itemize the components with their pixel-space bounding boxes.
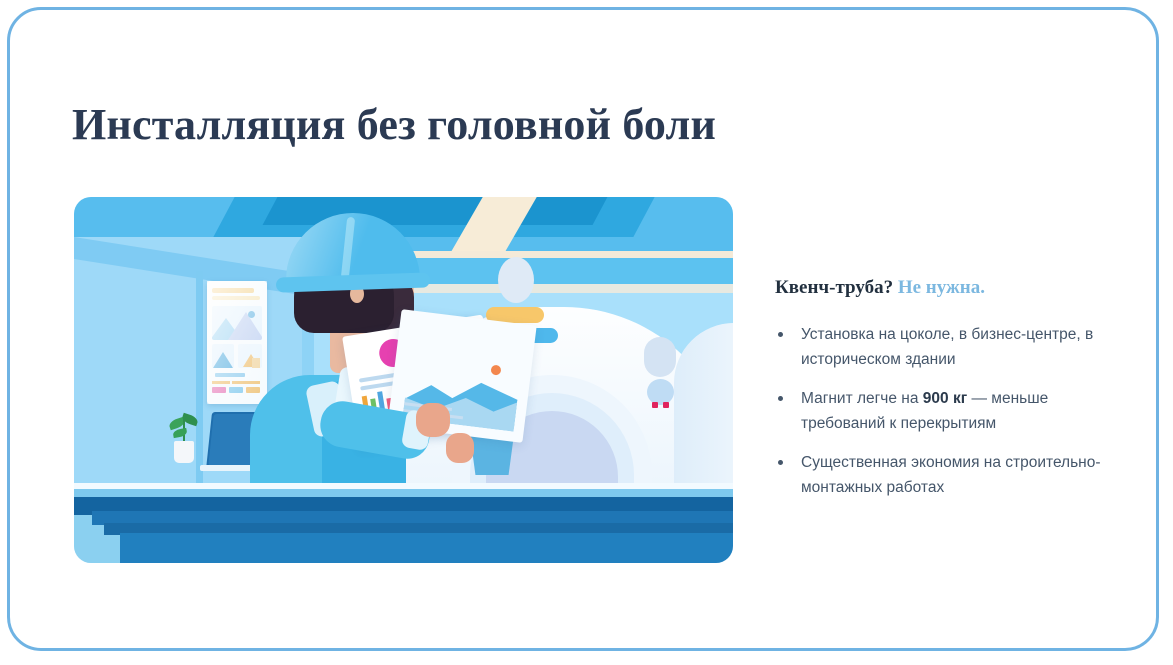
bullet-icon (778, 460, 783, 465)
heading-lead-text: Квенч-труба? (775, 277, 893, 298)
bullet-text-before: Существенная экономия на строительно-мон… (801, 454, 1101, 496)
mri-control-knob (647, 379, 674, 405)
right-panel-heading: Квенч-труба? Не нужна. (775, 276, 985, 300)
counter-front (120, 533, 733, 563)
wall-edge (196, 271, 203, 487)
chart-marker-dot (490, 365, 501, 376)
poster-glare (207, 281, 267, 404)
bullet-icon (778, 396, 783, 401)
mri-control-panel (644, 337, 676, 377)
desk-plant-pot (174, 441, 194, 463)
list-item: Существенная экономия на строительно-мон… (775, 450, 1125, 500)
engineer-hand-right (446, 433, 474, 463)
bullet-text-strong: 900 кг (923, 390, 967, 407)
list-item: Установка на цоколе, в бизнес-центре, в … (775, 322, 1125, 372)
ceiling-inset-inner (263, 197, 608, 225)
slide-frame: Инсталляция без головной боли (7, 7, 1159, 651)
page-title: Инсталляция без головной боли (72, 100, 716, 150)
list-item: Магнит легче на 900 кг — меньше требован… (775, 386, 1125, 436)
engineer-hand-left (416, 403, 450, 437)
benefits-list: Установка на цоколе, в бизнес-центре, в … (775, 322, 1125, 500)
mri-side-shading (674, 323, 733, 507)
bullet-text-before: Установка на цоколе, в бизнес-центре, в … (801, 326, 1093, 368)
illustration-image (74, 197, 733, 563)
bullet-text-before: Магнит легче на (801, 390, 923, 407)
mri-emblem-icon (498, 257, 534, 303)
heading-accent-text: Не нужна. (898, 277, 985, 298)
mri-led-1 (652, 402, 658, 408)
mri-led-2 (663, 402, 669, 408)
bullet-icon (778, 332, 783, 337)
